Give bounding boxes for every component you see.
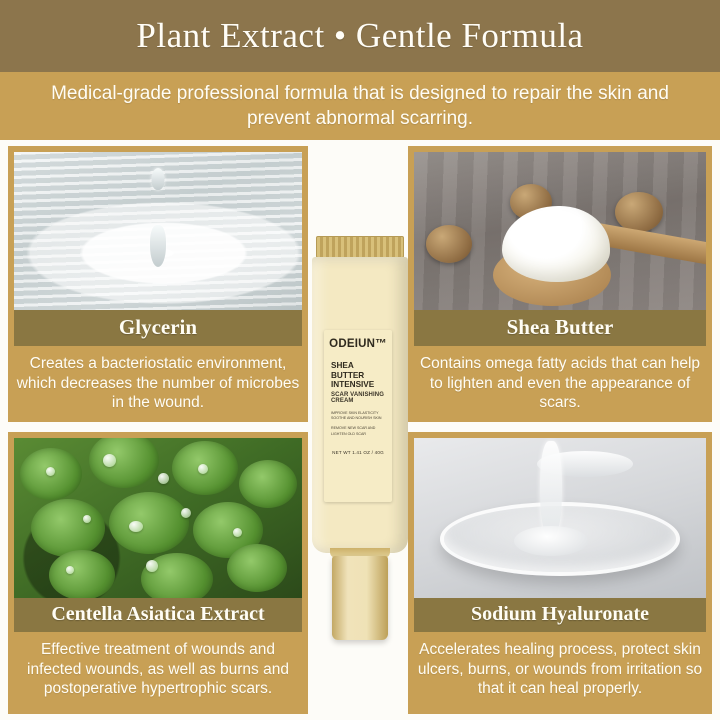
- product-benefit-2: REMOVE NEW SCAR AND LIGHTEN OLD SCAR: [329, 426, 387, 436]
- tube-cap: [332, 556, 388, 640]
- hyaluronic-gel-petri-dish-photo: [414, 438, 706, 598]
- tube-label: ODEIUN™ SHEA BUTTER INTENSIVE SCAR VANIS…: [324, 330, 392, 502]
- subheader-band: Medical-grade professional formula that …: [0, 72, 720, 140]
- ingredient-title-band: Glycerin: [14, 310, 302, 346]
- ingredient-title-band: Centella Asiatica Extract: [14, 598, 302, 632]
- centella-leaves-photo: [14, 438, 302, 598]
- center-gutter-top: [308, 140, 408, 236]
- ingredient-title-band: Shea Butter: [414, 310, 706, 346]
- ingredient-title: Shea Butter: [418, 315, 702, 340]
- ingredient-card-glycerin: Glycerin Creates a bacteriostatic enviro…: [8, 146, 308, 422]
- page-title: Plant Extract • Gentle Formula: [136, 16, 583, 56]
- shea-butter-spoon-photo: [414, 152, 706, 310]
- product-brand: ODEIUN™: [329, 338, 387, 350]
- page-subtitle: Medical-grade professional formula that …: [0, 81, 720, 131]
- ingredient-card-sodium-hyaluronate: Sodium Hyaluronate Accelerates healing p…: [408, 432, 712, 714]
- product-subtitle: SCAR VANISHING CREAM: [329, 392, 387, 404]
- header-band: Plant Extract • Gentle Formula: [0, 0, 720, 72]
- product-benefit-1: IMPROVE SKIN ELASTICITY SOOTHE AND NOURI…: [329, 411, 387, 421]
- product-tube: ODEIUN™ SHEA BUTTER INTENSIVE SCAR VANIS…: [310, 236, 410, 616]
- ingredient-card-shea-butter: Shea Butter Contains omega fatty acids t…: [408, 146, 712, 422]
- ingredient-description: Creates a bacteriostatic environment, wh…: [14, 346, 302, 422]
- ingredient-description: Effective treatment of wounds and infect…: [14, 632, 302, 714]
- ingredient-title-band: Sodium Hyaluronate: [414, 598, 706, 632]
- ingredient-description: Contains omega fatty acids that can help…: [414, 346, 706, 422]
- ingredient-title: Sodium Hyaluronate: [418, 603, 702, 626]
- ingredient-title: Centella Asiatica Extract: [18, 603, 298, 626]
- ingredient-title: Glycerin: [18, 315, 298, 340]
- ingredient-description: Accelerates healing process, protect ski…: [414, 632, 706, 714]
- ingredient-card-centella-asiatica-extract: Centella Asiatica Extract Effective trea…: [8, 432, 308, 714]
- product-name: SHEA BUTTER INTENSIVE: [329, 361, 387, 390]
- water-droplet-ripple-photo: [14, 152, 302, 310]
- tube-crimp-seal: [316, 236, 404, 258]
- product-net-weight: NET WT 1.41 OZ / 40G: [329, 450, 387, 455]
